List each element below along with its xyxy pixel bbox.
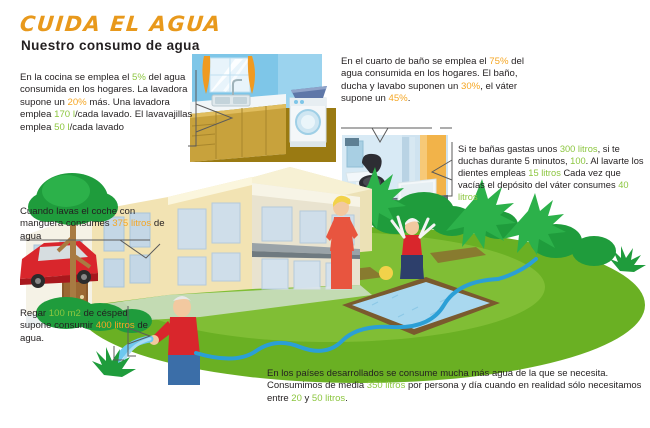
text-run: /cada lavado: [70, 122, 124, 133]
infographic-page: CUIDA EL AGUA Nuestro consumo de agua: [0, 0, 650, 428]
bathroom-stats-text: Si te bañas gastas unos 300 litros, si t…: [458, 143, 648, 203]
value-highlight: 20%: [67, 97, 86, 108]
value-highlight: 15 litros: [528, 168, 561, 178]
global-consumption-text: En los países desarrollados se consume m…: [267, 368, 645, 405]
value-highlight: 45%: [388, 93, 407, 104]
car-wash-callout-text: Cuando lavas el coche con manguera consu…: [20, 206, 180, 243]
text-run: .: [345, 393, 348, 404]
text-run: En la cocina se emplea el: [20, 72, 132, 83]
value-highlight: 300 litros: [560, 144, 598, 154]
text-run: .: [408, 93, 411, 104]
value-highlight: 50 l: [54, 122, 69, 133]
text-run: Si te bañas gastas unos: [458, 144, 560, 154]
value-highlight: 5%: [132, 72, 146, 83]
text-run: Regar: [20, 308, 49, 319]
value-highlight: 20: [291, 393, 302, 404]
value-highlight: 75%: [489, 56, 508, 67]
page-title: CUIDA EL AGUA: [19, 12, 223, 36]
value-highlight: 50 litros: [312, 393, 345, 404]
value-highlight: 100: [570, 156, 586, 166]
page-subtitle: Nuestro consumo de agua: [21, 38, 200, 53]
kitchen-callout-text: En la cocina se emplea el 5% del agua co…: [20, 72, 198, 134]
value-highlight: 350 litros: [367, 380, 406, 391]
value-highlight: 400 litros: [96, 320, 135, 331]
value-highlight: 100 m2: [49, 308, 81, 319]
value-highlight: 170 l: [54, 109, 75, 120]
value-highlight: 30%: [461, 81, 480, 92]
text-run: En el cuarto de baño se emplea el: [341, 56, 489, 67]
value-highlight: 375 litros: [112, 218, 151, 229]
kitchen-illustration: [190, 50, 336, 162]
lawn-watering-callout-text: Regar 100 m2 de césped supone consumir 4…: [20, 308, 155, 345]
text-run: y: [302, 393, 312, 404]
bathroom-callout-text: En el cuarto de baño se emplea el 75% de…: [341, 56, 531, 106]
